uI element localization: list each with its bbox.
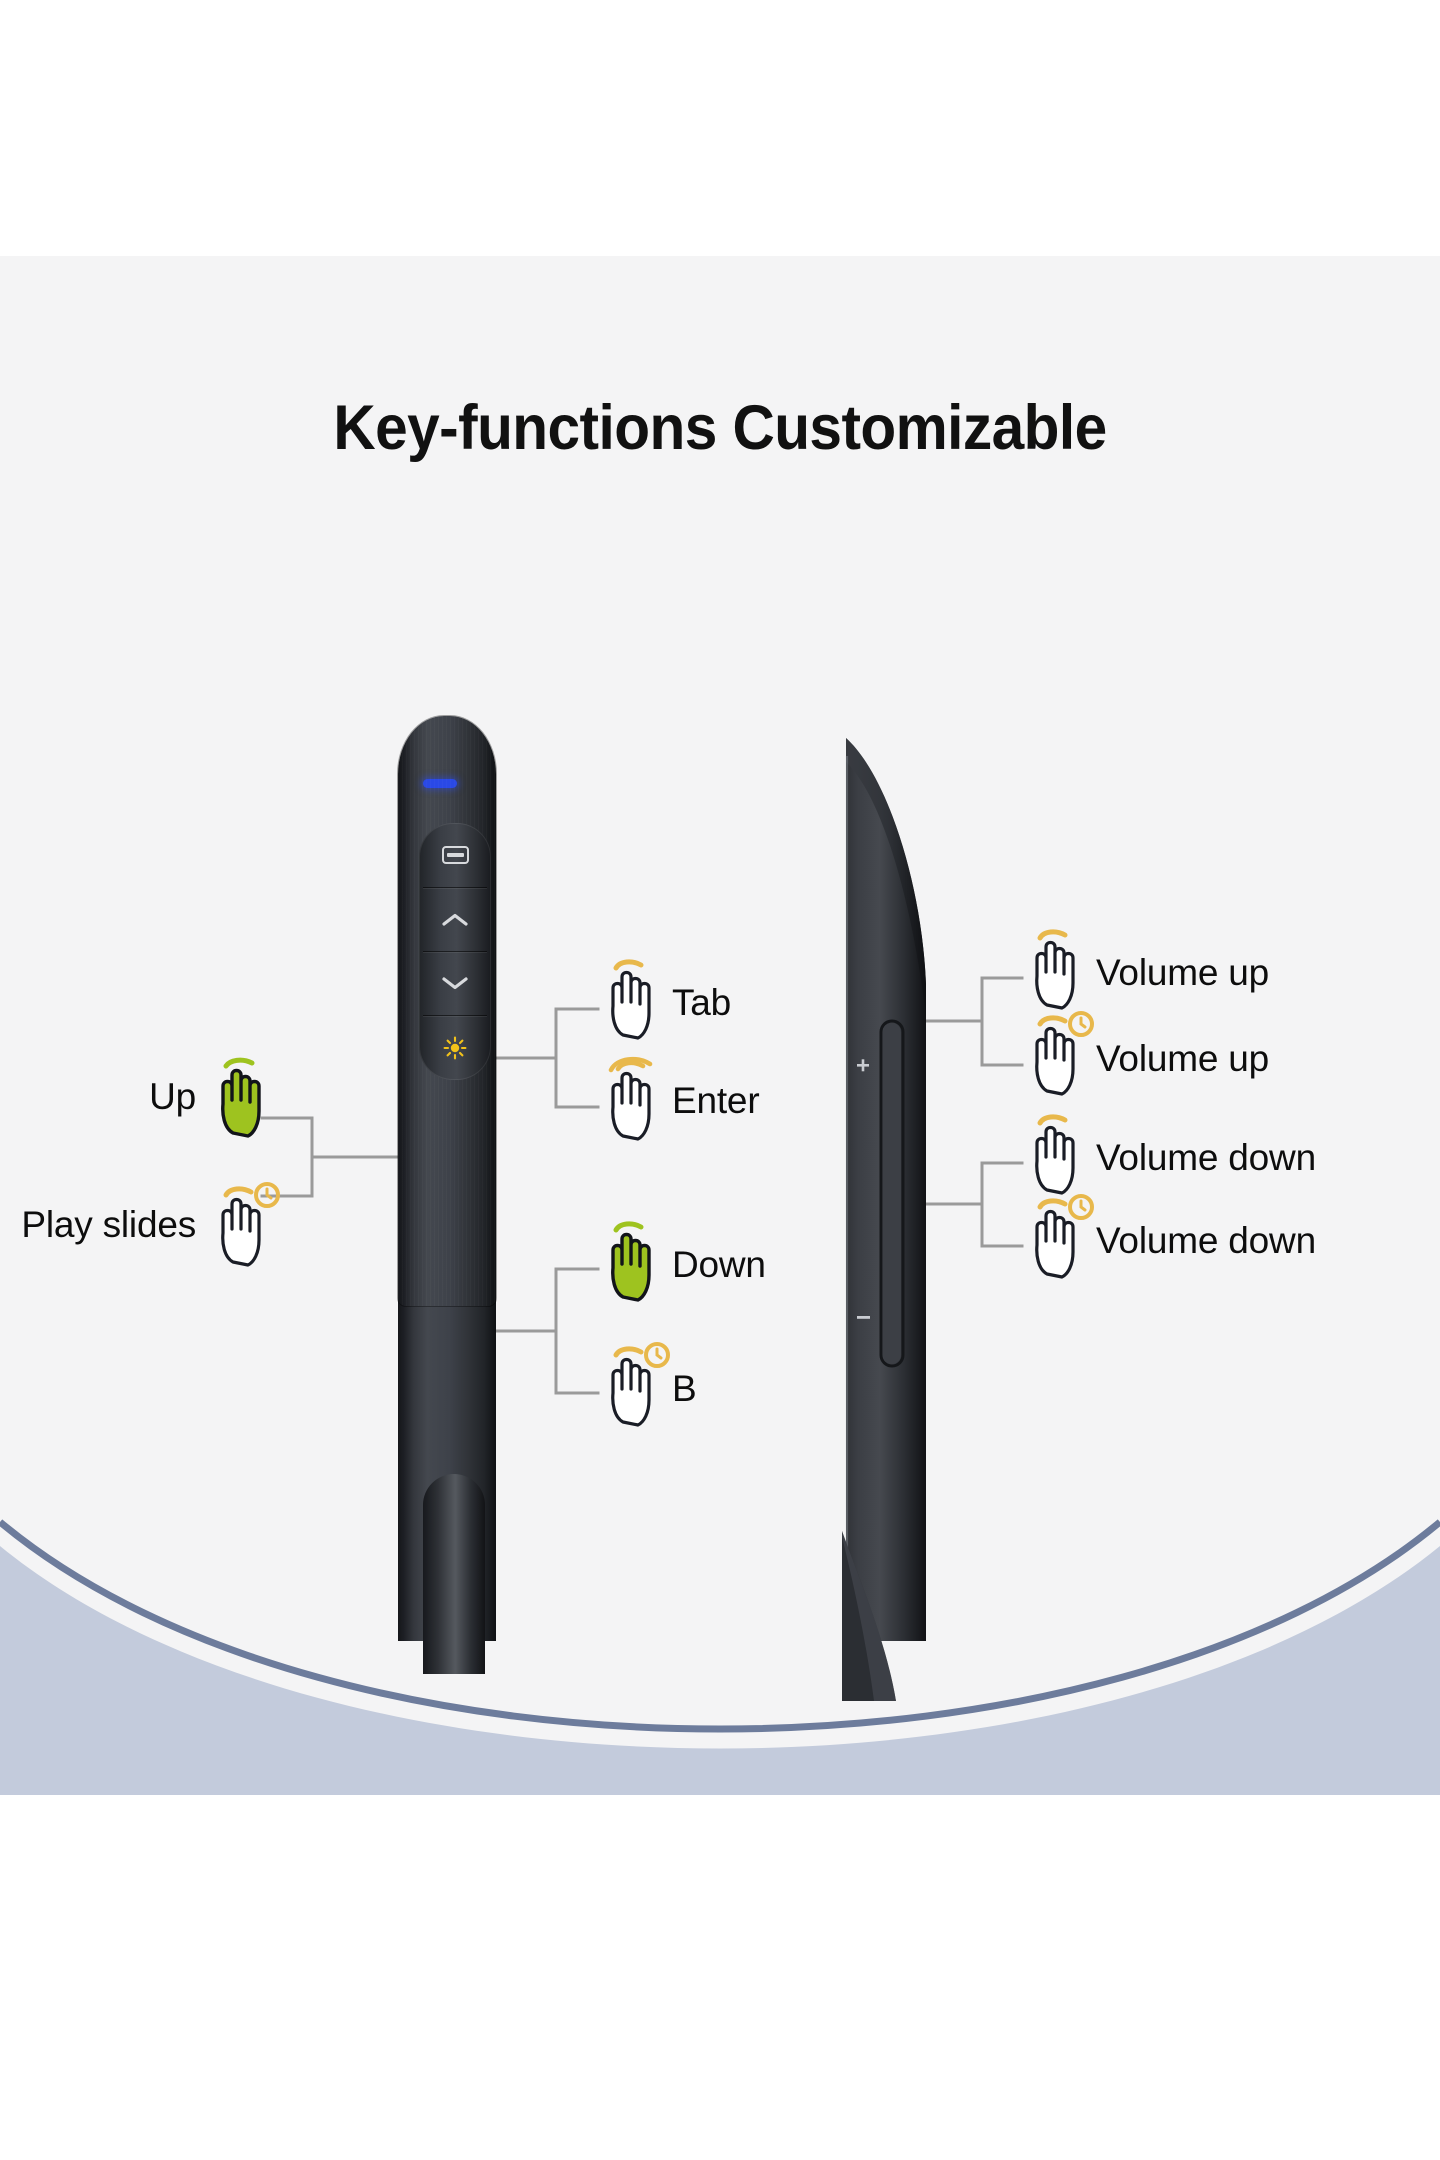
hand-long-press-icon xyxy=(1026,1194,1100,1280)
hand-double-tap-icon xyxy=(602,1053,664,1143)
callout-volume-down-long: Volume down xyxy=(1096,1220,1316,1262)
callout-label: Tab xyxy=(672,982,731,1024)
callout-label: Play slides xyxy=(21,1204,196,1246)
callout-enter: Enter xyxy=(672,1080,759,1122)
top-white-margin xyxy=(0,0,1440,256)
callout-volume-up-single: Volume up xyxy=(1096,952,1269,994)
callout-tab: Tab xyxy=(672,982,731,1024)
hand-long-press-icon xyxy=(1026,1011,1100,1097)
callout-label: Volume up xyxy=(1096,1038,1269,1080)
remote-keypad xyxy=(419,823,491,1080)
hand-tap-icon xyxy=(1026,926,1088,1012)
callout-down: Down xyxy=(672,1244,766,1286)
callout-play-slides: Play slides xyxy=(21,1204,206,1246)
callout-label: Up xyxy=(149,1076,196,1118)
presenter-remote-side-view xyxy=(842,716,934,1641)
screen-key[interactable] xyxy=(419,823,491,887)
callout-label: Volume down xyxy=(1096,1137,1316,1179)
chevron-up-icon xyxy=(442,913,468,926)
callout-label: Down xyxy=(672,1244,766,1286)
product-infographic: Key-functions Customizable xyxy=(0,0,1440,2160)
bottom-white-margin xyxy=(0,1795,1440,2160)
callout-connector-lines xyxy=(0,256,1440,1795)
callout-volume-up-long: Volume up xyxy=(1096,1038,1269,1080)
callout-up: Up xyxy=(149,1076,206,1118)
hand-long-press-icon xyxy=(602,1342,676,1428)
hand-tap-icon xyxy=(602,956,664,1042)
led-indicator xyxy=(423,779,457,788)
footer-note: You can reconfigure these functions via … xyxy=(150,1776,1310,1795)
sun-burst-icon xyxy=(443,1036,467,1060)
hand-tap-icon xyxy=(212,1056,274,1140)
hand-long-press-icon xyxy=(212,1182,286,1268)
callout-volume-down-single: Volume down xyxy=(1096,1137,1316,1179)
volume-minus-label xyxy=(857,1316,870,1319)
callout-label: Enter xyxy=(672,1080,759,1122)
down-key[interactable] xyxy=(419,951,491,1015)
chevron-down-icon xyxy=(442,977,468,990)
callout-label: Volume down xyxy=(1096,1220,1316,1262)
up-key[interactable] xyxy=(419,887,491,951)
callout-b: B xyxy=(672,1368,696,1410)
main-panel: Key-functions Customizable xyxy=(0,256,1440,1795)
screen-icon xyxy=(442,846,469,864)
hand-tap-icon xyxy=(1026,1111,1088,1197)
laser-key[interactable] xyxy=(419,1015,491,1080)
callout-label: Volume up xyxy=(1096,952,1269,994)
hand-tap-icon xyxy=(602,1218,664,1304)
remote-front-lens-panel xyxy=(423,1474,485,1674)
callout-label: B xyxy=(672,1368,696,1410)
remote-side-lens-tail xyxy=(800,1511,934,1701)
